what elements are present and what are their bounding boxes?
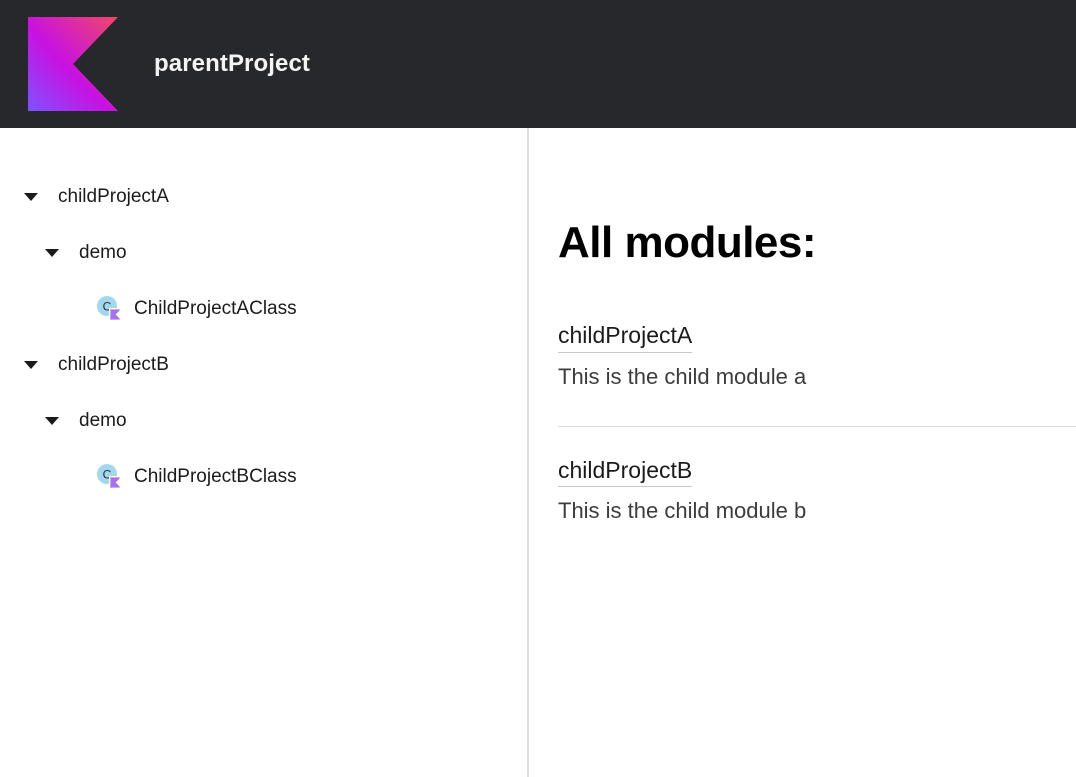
sidebar-item-childprojectb[interactable]: childProjectB bbox=[0, 348, 527, 380]
module-tree: childProjectA demo C ChildProjectAClass bbox=[0, 180, 527, 492]
caret-down-icon[interactable] bbox=[22, 355, 40, 373]
module-description: This is the child module a bbox=[558, 364, 1076, 390]
caret-down-icon[interactable] bbox=[43, 411, 61, 429]
sidebar-item-label: demo bbox=[79, 411, 127, 430]
sidebar-navigation: childProjectA demo C ChildProjectAClass bbox=[0, 128, 529, 777]
sidebar-item-label: childProjectB bbox=[58, 355, 169, 374]
sidebar-item-label: demo bbox=[79, 243, 127, 262]
sidebar-item-label: childProjectA bbox=[58, 187, 169, 206]
sidebar-item-childprojecta[interactable]: childProjectA bbox=[0, 180, 527, 212]
sidebar-item-label: ChildProjectAClass bbox=[134, 299, 297, 318]
page-title: parentProject bbox=[154, 50, 310, 78]
module-list: childProjectA This is the child module a… bbox=[558, 322, 1076, 533]
module-link-childprojecta[interactable]: childProjectA bbox=[558, 322, 692, 352]
module-description: This is the child module b bbox=[558, 498, 1076, 524]
module-list-item: childProjectB This is the child module b bbox=[558, 426, 1076, 533]
sidebar-item-childprojectbclass[interactable]: C ChildProjectBClass bbox=[0, 460, 527, 492]
page-body: childProjectA demo C ChildProjectAClass bbox=[0, 128, 1076, 777]
caret-down-icon[interactable] bbox=[43, 243, 61, 261]
module-list-item: childProjectA This is the child module a bbox=[558, 322, 1076, 398]
kotlin-logo-icon[interactable] bbox=[28, 17, 118, 111]
module-link-childprojectb[interactable]: childProjectB bbox=[558, 457, 692, 487]
caret-down-icon[interactable] bbox=[22, 187, 40, 205]
sidebar-item-childprojectaclass[interactable]: C ChildProjectAClass bbox=[0, 292, 527, 324]
class-icon: C bbox=[96, 463, 122, 489]
main-heading: All modules: bbox=[558, 220, 1076, 266]
top-navigation-bar: parentProject bbox=[0, 0, 1076, 128]
class-icon: C bbox=[96, 295, 122, 321]
sidebar-item-label: ChildProjectBClass bbox=[134, 467, 297, 486]
sidebar-item-demo-b[interactable]: demo bbox=[0, 404, 527, 436]
main-content: All modules: childProjectA This is the c… bbox=[529, 128, 1076, 777]
sidebar-item-demo-a[interactable]: demo bbox=[0, 236, 527, 268]
